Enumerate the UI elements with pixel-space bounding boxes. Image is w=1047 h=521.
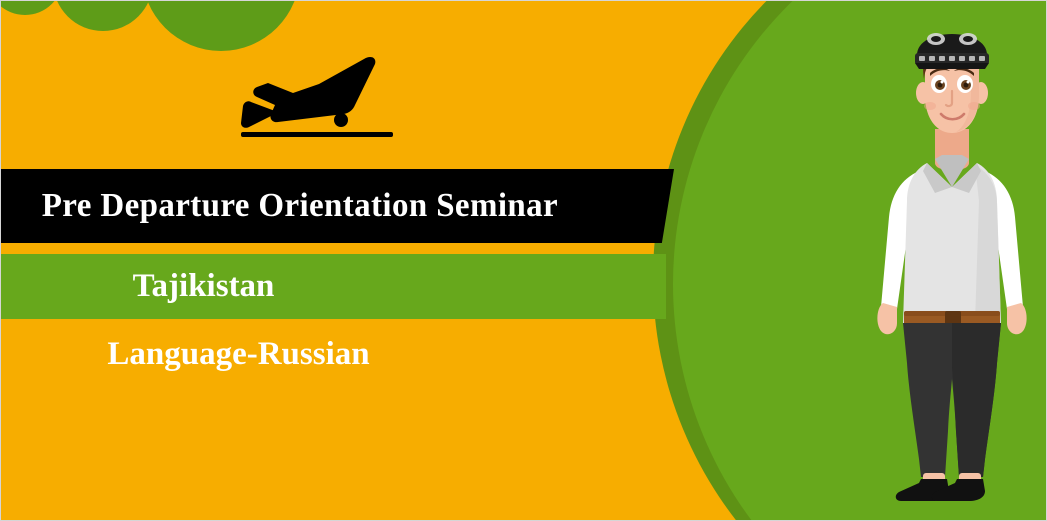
runway-line-icon bbox=[241, 132, 393, 137]
tubeteika-skullcap-icon bbox=[915, 33, 989, 69]
airplane-takeoff-icon bbox=[231, 53, 411, 143]
language-label: Language-Russian bbox=[107, 336, 559, 373]
top-decor-circle-2 bbox=[53, 1, 153, 31]
language-row: Language-Russian bbox=[1, 323, 666, 385]
top-decor-circle-3 bbox=[142, 1, 300, 51]
title-banner: Pre Departure Orientation Seminar bbox=[1, 169, 674, 243]
title-banner-text: Pre Departure Orientation Seminar bbox=[1, 187, 558, 225]
top-decor-circle-1 bbox=[1, 1, 63, 15]
country-banner: Tajikistan bbox=[1, 254, 666, 319]
country-label: Tajikistan bbox=[133, 268, 535, 305]
tajik-man-character-icon bbox=[857, 11, 1047, 511]
poster-canvas: Pre Departure Orientation Seminar Tajiki… bbox=[0, 0, 1047, 521]
